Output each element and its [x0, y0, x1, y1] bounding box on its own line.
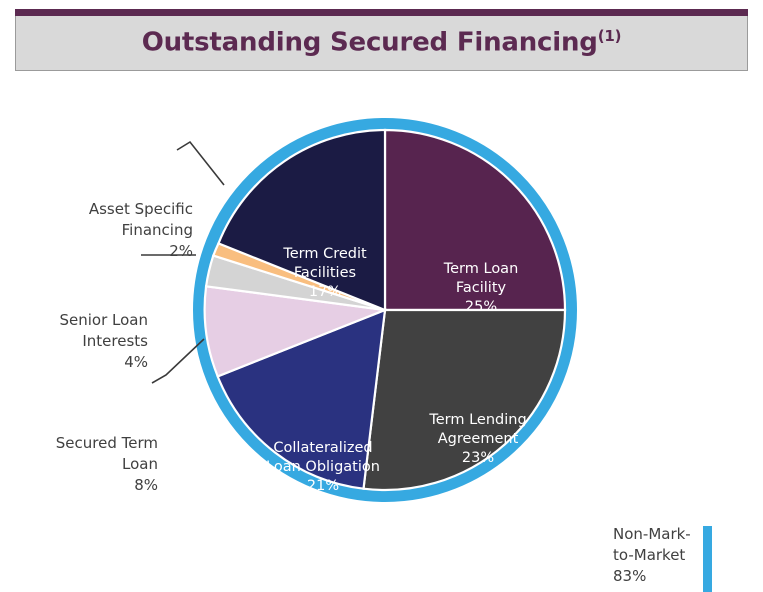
legend-non-mark-to-market: Non-Mark- to-Market 83%: [613, 524, 712, 592]
legend-label: Non-Mark- to-Market 83%: [613, 524, 691, 587]
title-accent-bar: [15, 9, 748, 16]
legend-color-swatch: [703, 526, 712, 592]
callout-label-asset-specific-financing: Asset Specific Financing 2%: [8, 199, 193, 262]
pie-slices: [205, 130, 565, 490]
callout-label-value: 2%: [8, 241, 193, 262]
leader-line-secured-term-loan: [152, 339, 204, 383]
callout-label-line-2: Loan: [8, 454, 158, 475]
leader-line-asset-specific-financing: [177, 142, 224, 185]
callout-label-secured-term-loan: Secured Term Loan 8%: [8, 433, 158, 496]
page-title-footnote-marker: (1): [598, 27, 622, 45]
page-title: Outstanding Secured Financing(1): [142, 27, 622, 58]
callout-label-line-2: Interests: [8, 331, 148, 352]
callout-label-value: 4%: [8, 352, 148, 373]
callout-label-line-1: Asset Specific: [8, 199, 193, 220]
title-banner: Outstanding Secured Financing(1): [15, 9, 748, 71]
callout-label-senior-loan-interests: Senior Loan Interests 4%: [8, 310, 148, 373]
callout-label-line-2: Financing: [8, 220, 193, 241]
slice-term-lending-agreement[interactable]: [364, 310, 566, 490]
callout-label-value: 8%: [8, 475, 158, 496]
pie-chart: Term Loan Facility 25% Term Lending Agre…: [0, 71, 763, 542]
callout-label-line-1: Secured Term: [8, 433, 158, 454]
callout-label-line-1: Senior Loan: [8, 310, 148, 331]
slice-term-loan-facility[interactable]: [385, 130, 565, 310]
page-title-text: Outstanding Secured Financing: [142, 28, 598, 58]
